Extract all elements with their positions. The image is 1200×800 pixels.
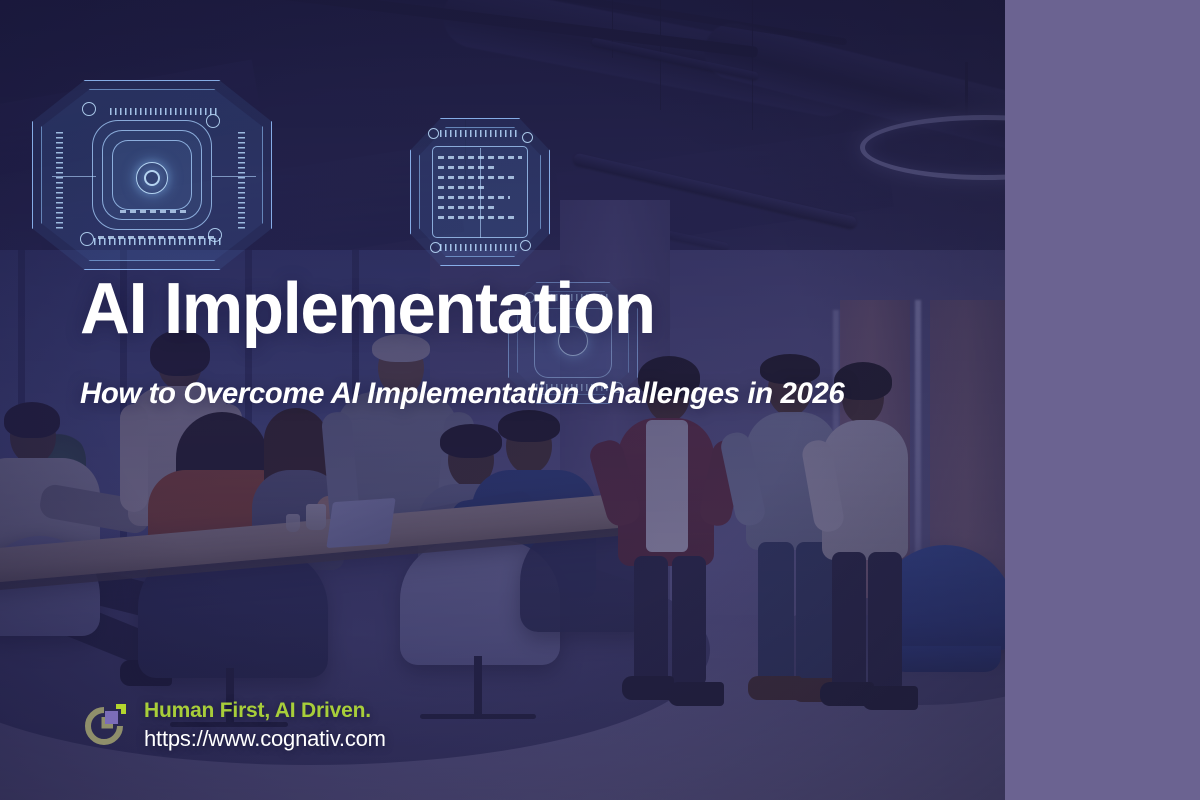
footer-branding: Human First, AI Driven. https://www.cogn…: [80, 699, 386, 752]
tagline: Human First, AI Driven.: [144, 699, 386, 723]
page-subtitle: How to Overcome AI Implementation Challe…: [80, 377, 844, 410]
page-title: AI Implementation: [80, 273, 655, 345]
hero-banner: AI Implementation How to Overcome AI Imp…: [0, 0, 1200, 800]
website-url[interactable]: https://www.cognativ.com: [144, 726, 386, 752]
cognativ-logo-icon: [80, 702, 128, 750]
right-color-panel: [1005, 0, 1200, 800]
footer-text-block: Human First, AI Driven. https://www.cogn…: [144, 699, 386, 752]
